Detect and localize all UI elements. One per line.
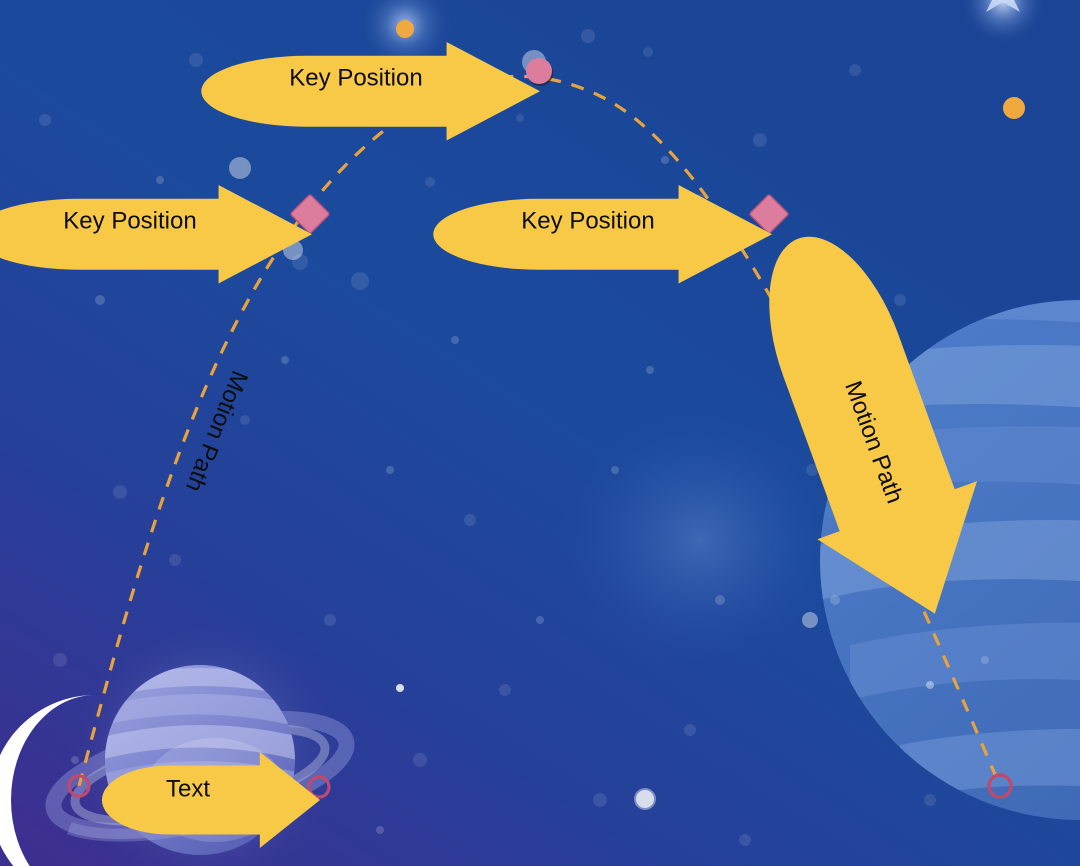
orange-dot-top — [396, 20, 414, 38]
space-motion-path-scene: Motion Path Motion Path Key Position Key… — [0, 0, 1080, 866]
illustration-canvas: Motion Path Motion Path Key Position Key… — [0, 0, 1080, 866]
callout-label: Key Position — [63, 207, 196, 234]
callout-label: Key Position — [521, 207, 654, 234]
callout-label: Key Position — [289, 64, 422, 91]
orange-dot-right — [1003, 97, 1025, 119]
callout-label: Text — [166, 775, 210, 802]
nebula-glow — [550, 400, 850, 680]
